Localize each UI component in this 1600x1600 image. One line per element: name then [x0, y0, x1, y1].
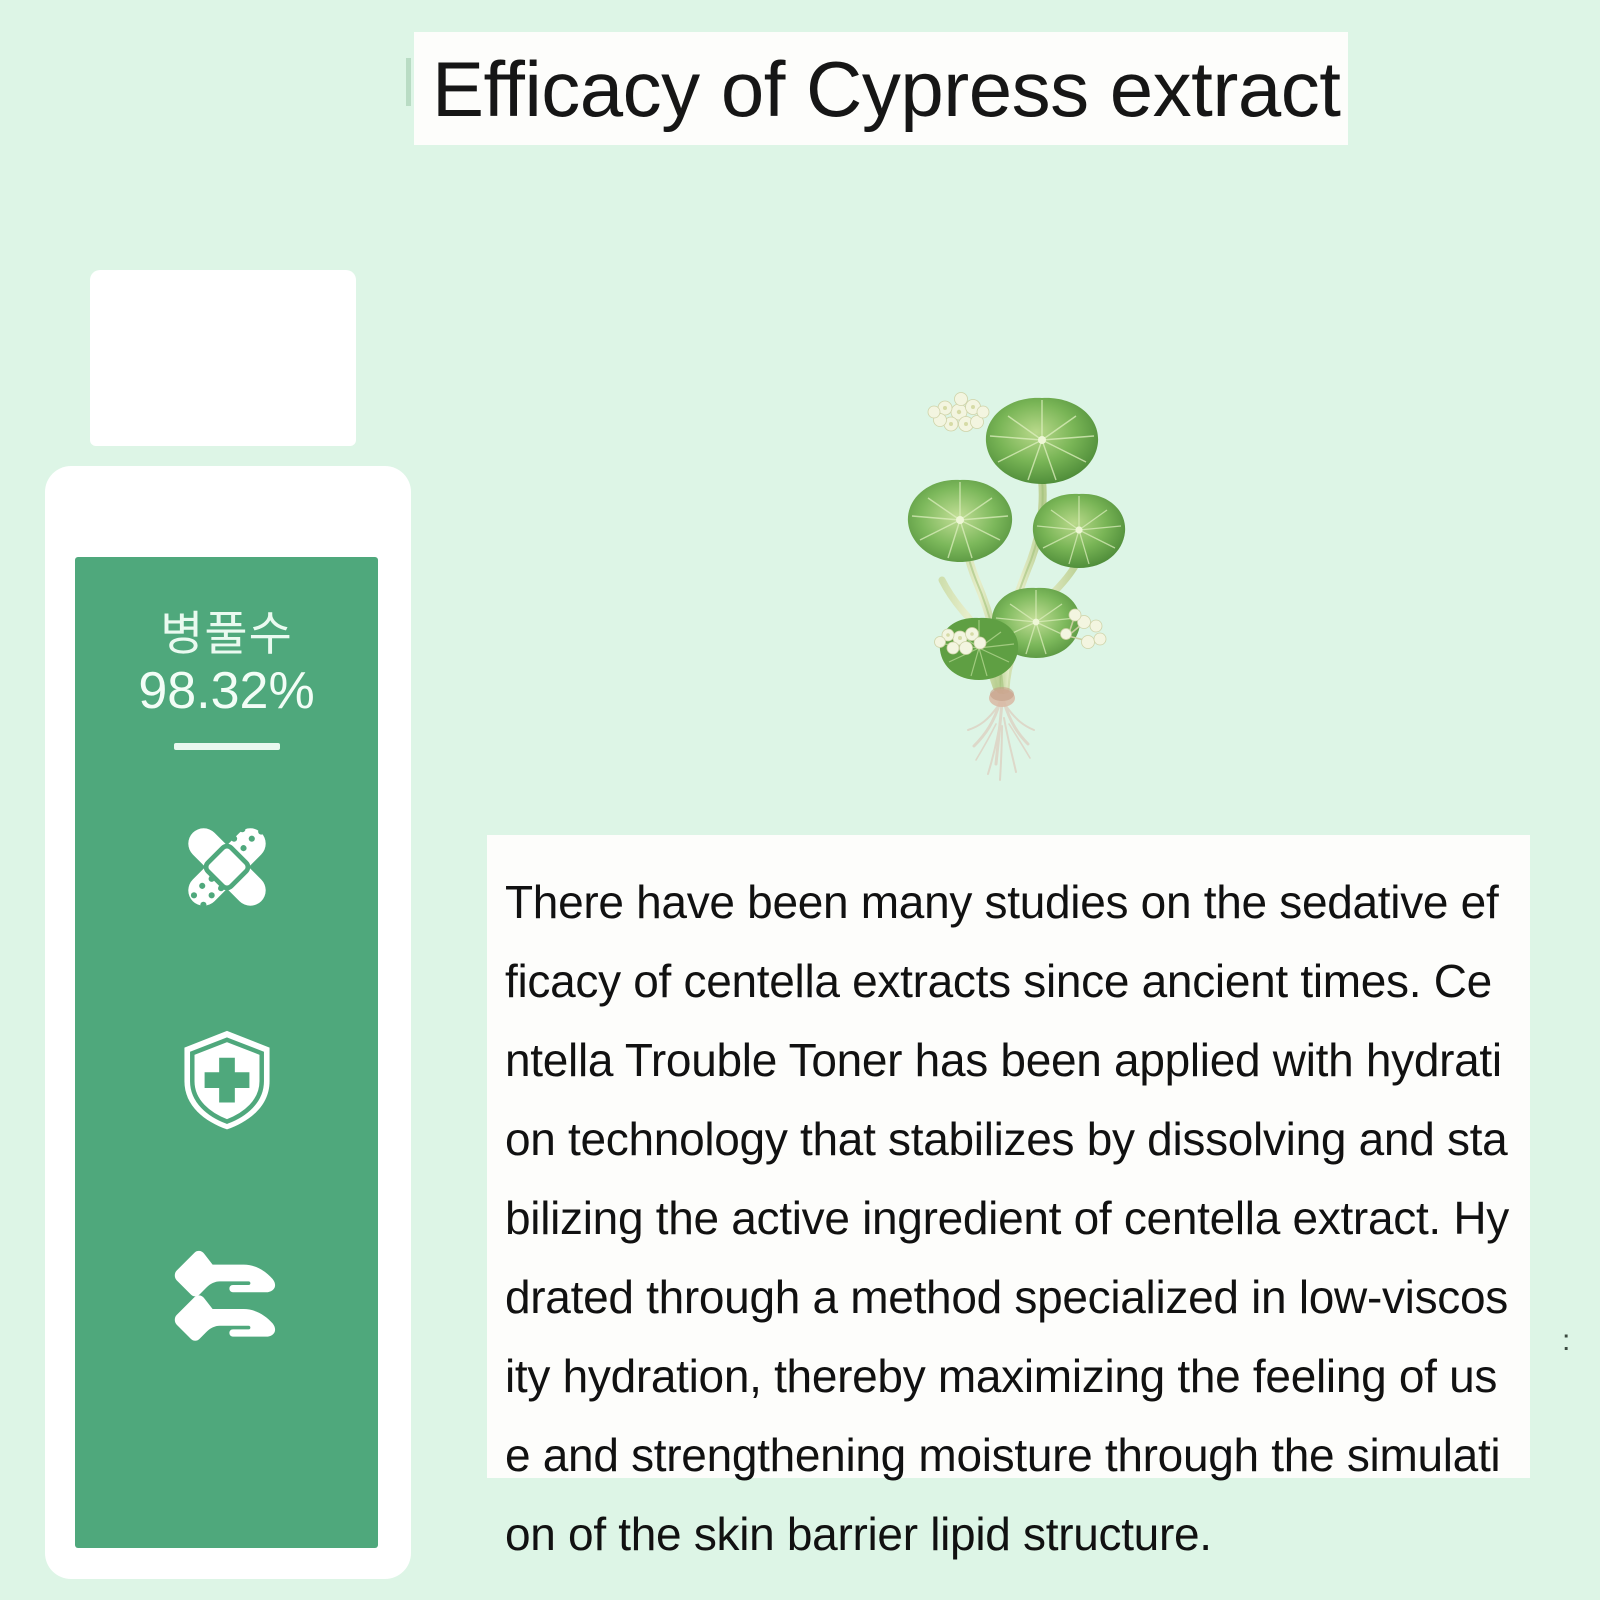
bottle-label: 병풀수 98.32%	[75, 557, 378, 1548]
slide-canvas: Efficacy of Cypress extract 병풀수 98.32%	[0, 0, 1600, 1600]
label-brand-name: 병풀수	[160, 609, 293, 658]
crossed-bandages-icon	[162, 802, 292, 932]
description-card: There have been many studies on the seda…	[487, 835, 1530, 1478]
caring-hands-icon	[162, 1226, 292, 1356]
description-paragraph: There have been many studies on the seda…	[505, 863, 1510, 1574]
title-accent-tick	[406, 58, 411, 106]
bottle-cap	[90, 270, 356, 446]
centella-plant-illustration	[876, 330, 1126, 790]
shield-cross-icon	[162, 1014, 292, 1144]
label-percentage: 98.32%	[138, 664, 314, 719]
title-banner: Efficacy of Cypress extract	[414, 32, 1348, 145]
label-icon-list	[162, 802, 292, 1356]
label-divider	[174, 743, 280, 750]
page-title: Efficacy of Cypress extract	[432, 50, 1340, 128]
stray-artifact-mark: :	[1562, 1328, 1571, 1354]
